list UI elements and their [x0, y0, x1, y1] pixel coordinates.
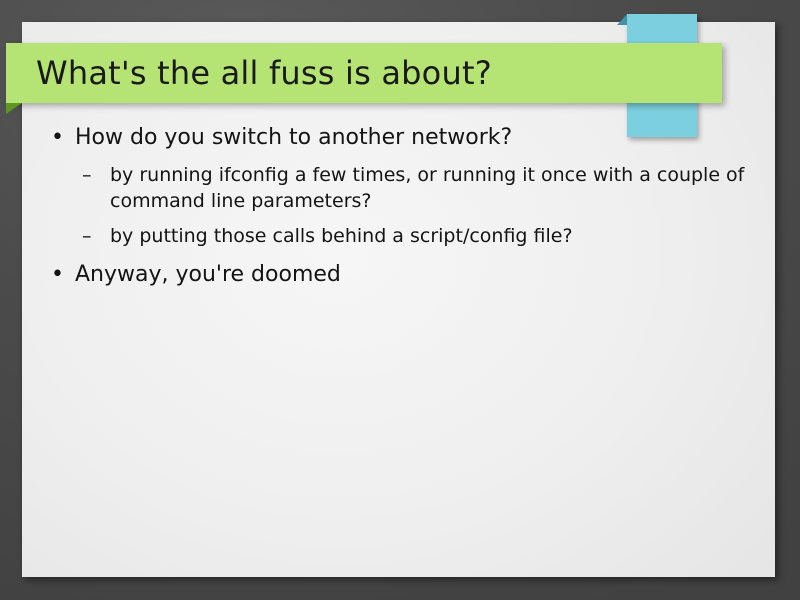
- bullet-list-level1: • How do you switch to another network? …: [22, 122, 775, 290]
- slide-body: • How do you switch to another network? …: [22, 122, 775, 292]
- list-item: – by running ifconfig a few times, or ru…: [75, 162, 775, 214]
- list-item: – by putting those calls behind a script…: [75, 223, 775, 249]
- bullet-list-level2: – by running ifconfig a few times, or ru…: [75, 162, 775, 249]
- presentation-stage: What's the all fuss is about? • How do y…: [0, 0, 800, 600]
- list-item-label: Anyway, you're doomed: [75, 259, 775, 290]
- list-item: • Anyway, you're doomed: [22, 259, 775, 290]
- bullet-dash-icon: –: [82, 162, 92, 188]
- list-item-label: How do you switch to another network?: [75, 122, 775, 153]
- bullet-dot-icon: •: [51, 122, 64, 153]
- page-title: What's the all fuss is about?: [6, 54, 492, 92]
- blue-accent-fold-icon: [617, 14, 627, 25]
- bullet-dot-icon: •: [51, 259, 64, 290]
- list-item-label: by putting those calls behind a script/c…: [110, 223, 755, 249]
- list-item: • How do you switch to another network? …: [22, 122, 775, 249]
- title-banner-fold-icon: [6, 103, 22, 114]
- list-item-label: by running ifconfig a few times, or runn…: [110, 162, 755, 214]
- title-banner: What's the all fuss is about?: [6, 43, 722, 103]
- bullet-dash-icon: –: [82, 223, 92, 249]
